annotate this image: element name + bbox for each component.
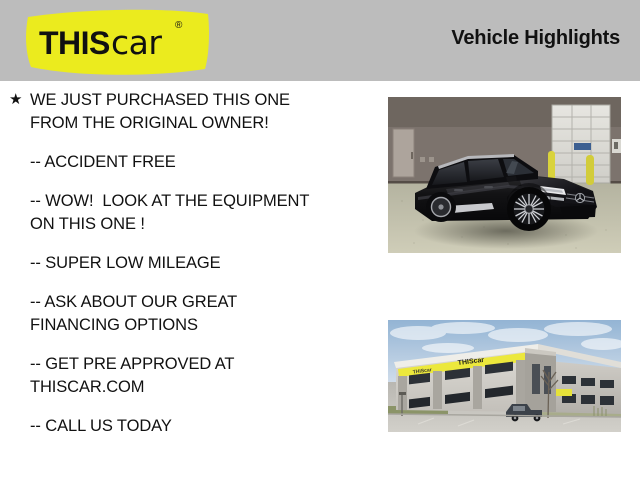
thiscar-logo-icon: THIS car ®: [22, 7, 212, 76]
highlight-item: -- WOW! LOOK AT THE EQUIPMENT ON THIS ON…: [8, 190, 378, 236]
highlight-item: -- ACCIDENT FREE: [8, 151, 378, 174]
highlight-line: -- ASK ABOUT OUR GREAT: [30, 291, 378, 314]
highlight-item: ★ WE JUST PURCHASED THIS ONE FROM THE OR…: [8, 89, 378, 135]
highlight-item: -- ASK ABOUT OUR GREAT FINANCING OPTIONS: [8, 291, 378, 337]
highlight-line: -- CALL US TODAY: [30, 415, 378, 438]
highlight-line: -- ACCIDENT FREE: [30, 151, 378, 174]
highlight-item: -- CALL US TODAY: [8, 415, 378, 438]
highlight-line: THISCAR.COM: [30, 376, 378, 399]
dealership-photo[interactable]: THIScar THIScar: [388, 320, 621, 432]
highlight-line: -- WOW! LOOK AT THE EQUIPMENT: [30, 190, 378, 213]
highlight-line: FINANCING OPTIONS: [30, 314, 378, 337]
highlight-line: ON THIS ONE !: [30, 213, 378, 236]
highlights-list: ★ WE JUST PURCHASED THIS ONE FROM THE OR…: [8, 89, 378, 438]
highlight-line: -- GET PRE APPROVED AT: [30, 353, 378, 376]
highlight-line: FROM THE ORIGINAL OWNER!: [30, 112, 378, 135]
svg-text:®: ®: [175, 20, 183, 31]
highlight-line: -- SUPER LOW MILEAGE: [30, 252, 378, 275]
star-icon: ★: [9, 88, 22, 111]
thiscar-logo[interactable]: THIS car ®: [22, 7, 212, 76]
highlight-line: WE JUST PURCHASED THIS ONE: [30, 89, 378, 112]
dealership-photo-image: THIScar THIScar: [388, 320, 621, 432]
highlight-item: -- GET PRE APPROVED AT THISCAR.COM: [8, 353, 378, 399]
page-title: Vehicle Highlights: [451, 27, 620, 50]
header-bar: THIS car ® Vehicle Highlights: [0, 0, 640, 81]
vehicle-photo[interactable]: [388, 97, 621, 253]
svg-text:THIS: THIS: [39, 25, 110, 61]
vehicle-highlights-page: THIS car ® Vehicle Highlights ★ WE JUST …: [0, 0, 640, 480]
vehicle-photo-image: [388, 97, 621, 253]
svg-text:car: car: [111, 23, 162, 62]
highlight-item: -- SUPER LOW MILEAGE: [8, 252, 378, 275]
